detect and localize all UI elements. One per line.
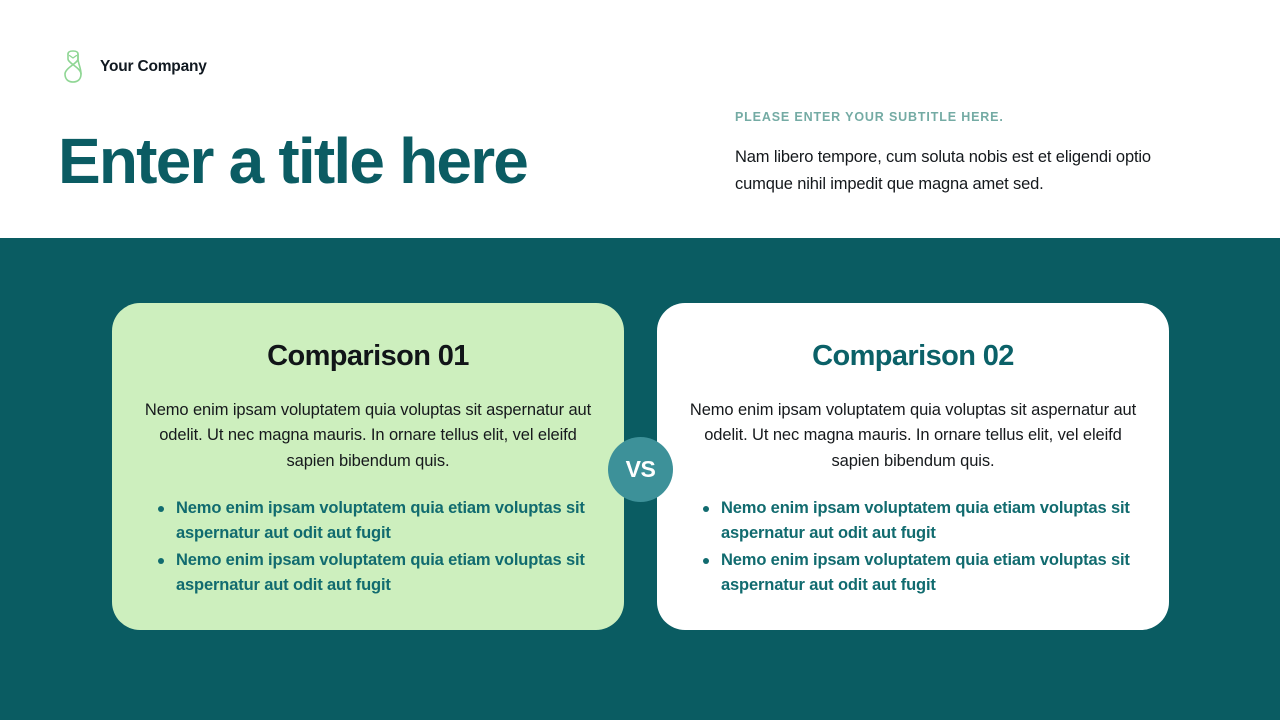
comparison-card-02[interactable]: Comparison 02 Nemo enim ipsam voluptatem… bbox=[657, 303, 1169, 630]
slide-header: Your Company Enter a title here PLEASE E… bbox=[0, 0, 1280, 238]
subtitle-block: PLEASE ENTER YOUR SUBTITLE HERE. Nam lib… bbox=[735, 110, 1185, 197]
brand-name: Your Company bbox=[100, 58, 207, 76]
subtitle-eyebrow: PLEASE ENTER YOUR SUBTITLE HERE. bbox=[735, 110, 1185, 125]
comparison-card-01[interactable]: Comparison 01 Nemo enim ipsam voluptatem… bbox=[112, 303, 624, 630]
comparison-card-02-paragraph: Nemo enim ipsam voluptatem quia voluptas… bbox=[687, 398, 1139, 474]
slide-root: Your Company Enter a title here PLEASE E… bbox=[0, 0, 1280, 720]
comparison-cards: Comparison 01 Nemo enim ipsam voluptatem… bbox=[0, 238, 1280, 720]
comparison-card-01-bullets: Nemo enim ipsam voluptatem quia etiam vo… bbox=[142, 496, 594, 598]
versus-badge: VS bbox=[608, 437, 673, 502]
list-item: Nemo enim ipsam voluptatem quia etiam vo… bbox=[176, 496, 594, 546]
brand-lockup[interactable]: Your Company bbox=[58, 50, 207, 83]
ribbon-knot-logo-icon bbox=[58, 50, 88, 83]
list-item: Nemo enim ipsam voluptatem quia etiam vo… bbox=[176, 548, 594, 598]
comparison-card-01-title: Comparison 01 bbox=[142, 339, 594, 374]
comparison-card-01-paragraph: Nemo enim ipsam voluptatem quia voluptas… bbox=[142, 398, 594, 474]
subtitle-body: Nam libero tempore, cum soluta nobis est… bbox=[735, 144, 1185, 197]
page-title: Enter a title here bbox=[58, 126, 527, 198]
list-item: Nemo enim ipsam voluptatem quia etiam vo… bbox=[721, 496, 1139, 546]
comparison-card-02-title: Comparison 02 bbox=[687, 339, 1139, 374]
content-band: Comparison 01 Nemo enim ipsam voluptatem… bbox=[0, 238, 1280, 720]
comparison-card-02-bullets: Nemo enim ipsam voluptatem quia etiam vo… bbox=[687, 496, 1139, 598]
versus-badge-label: VS bbox=[626, 458, 656, 481]
list-item: Nemo enim ipsam voluptatem quia etiam vo… bbox=[721, 548, 1139, 598]
